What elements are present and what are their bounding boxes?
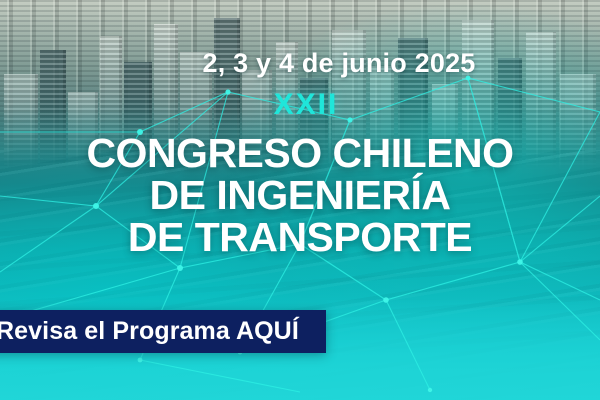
event-title: CONGRESO CHILENO DE INGENIERÍA DE TRANSP… bbox=[0, 134, 600, 257]
event-title-line-3: DE TRANSPORTE bbox=[0, 218, 600, 258]
event-title-line-1: CONGRESO CHILENO bbox=[0, 134, 600, 174]
poster-content: 2, 3 y 4 de junio 2025 XXII CONGRESO CHI… bbox=[0, 0, 600, 400]
event-date: 2, 3 y 4 de junio 2025 bbox=[0, 48, 600, 79]
edition-number: XXII bbox=[0, 88, 600, 122]
conference-promo-banner: 2, 3 y 4 de junio 2025 XXII CONGRESO CHI… bbox=[0, 0, 600, 400]
program-cta-banner[interactable]: Revisa el Programa AQUÍ bbox=[0, 310, 326, 353]
program-cta-label: Revisa el Programa AQUÍ bbox=[0, 317, 299, 346]
event-title-line-2: DE INGENIERÍA bbox=[0, 176, 600, 216]
